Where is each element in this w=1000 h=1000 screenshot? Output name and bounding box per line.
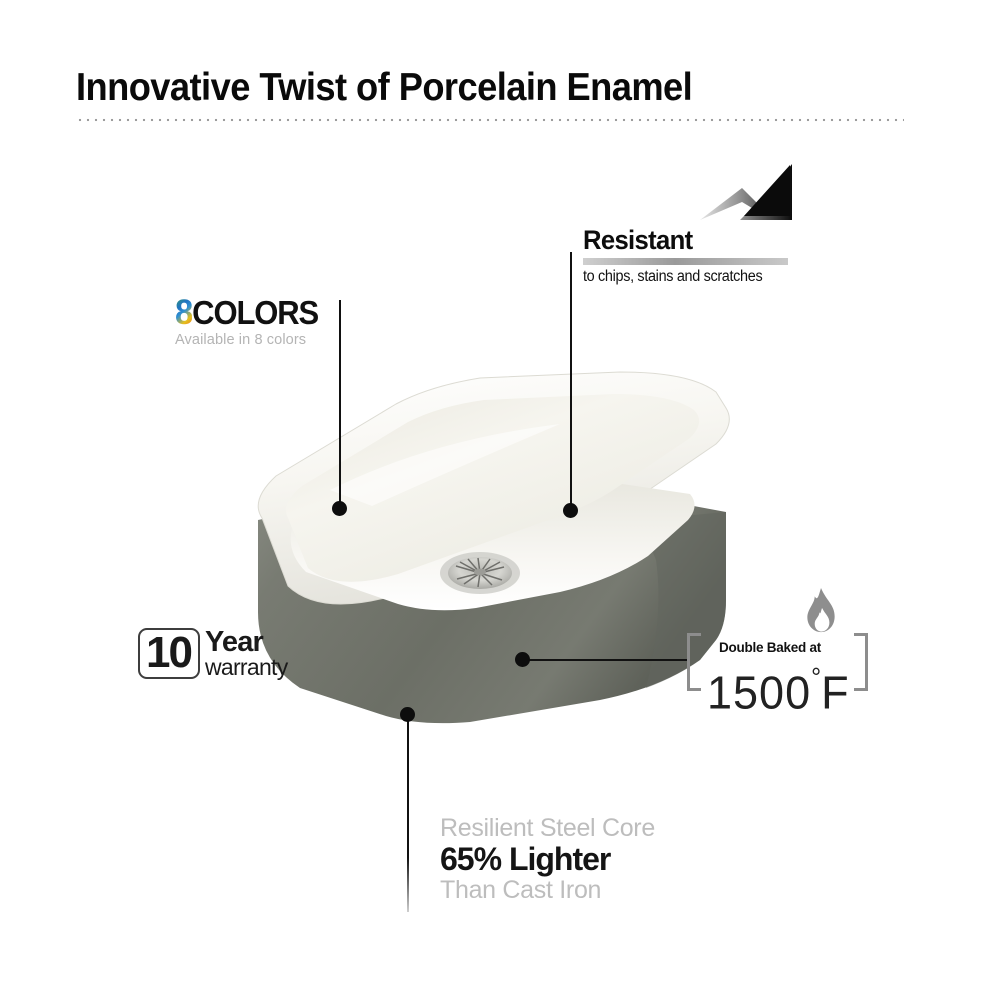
degree-symbol: ° (811, 663, 821, 692)
drain-center (474, 569, 486, 576)
warranty-callout: 10 Year warranty (138, 628, 288, 679)
warranty-line2: warranty (205, 656, 288, 679)
annotation-dot-baked (515, 652, 530, 667)
temperature-value: 1500 (707, 666, 811, 719)
leader-line-resistant (570, 252, 572, 510)
bracket-right (854, 633, 868, 691)
steel-core-callout: Resilient Steel Core 65% Lighter Than Ca… (440, 815, 655, 904)
leader-line-colors (339, 300, 341, 508)
resistant-divider-bar (583, 258, 788, 265)
annotation-dot-colors (332, 501, 347, 516)
temperature-unit: F (821, 666, 850, 719)
annotation-dot-steel (400, 707, 415, 722)
double-baked-callout: Double Baked at 1500°F (707, 640, 850, 716)
baked-label: Double Baked at (719, 640, 850, 655)
infographic-page: Innovative Twist of Porcelain Enamel (0, 0, 1000, 1000)
warranty-line1: Year (205, 629, 288, 655)
steel-line1: Resilient Steel Core (440, 815, 655, 842)
leader-line-baked (523, 659, 688, 661)
up-arrow-head (744, 165, 790, 216)
resistant-headline: Resistant (583, 226, 778, 254)
steel-line3: Than Cast Iron (440, 877, 655, 904)
colors-callout: 8COLORS Available in 8 colors (175, 296, 327, 348)
annotation-dot-resistant (563, 503, 578, 518)
colors-count: 8 (175, 293, 192, 332)
resistant-callout: Resistant to chips, stains and scratches (583, 226, 788, 286)
colors-headline-text: COLORS (192, 294, 318, 331)
leader-line-steel (407, 718, 409, 912)
steel-line2: 65% Lighter (440, 842, 655, 877)
baked-temperature: 1500°F (707, 654, 850, 717)
colors-subtext: Available in 8 colors (175, 331, 323, 348)
resistant-subtext: to chips, stains and scratches (583, 268, 774, 286)
warranty-number-frame: 10 (138, 628, 200, 679)
warranty-number: 10 (146, 631, 191, 675)
colors-headline: 8COLORS (175, 296, 318, 329)
flame-icon (807, 588, 834, 632)
bracket-left (687, 633, 701, 691)
